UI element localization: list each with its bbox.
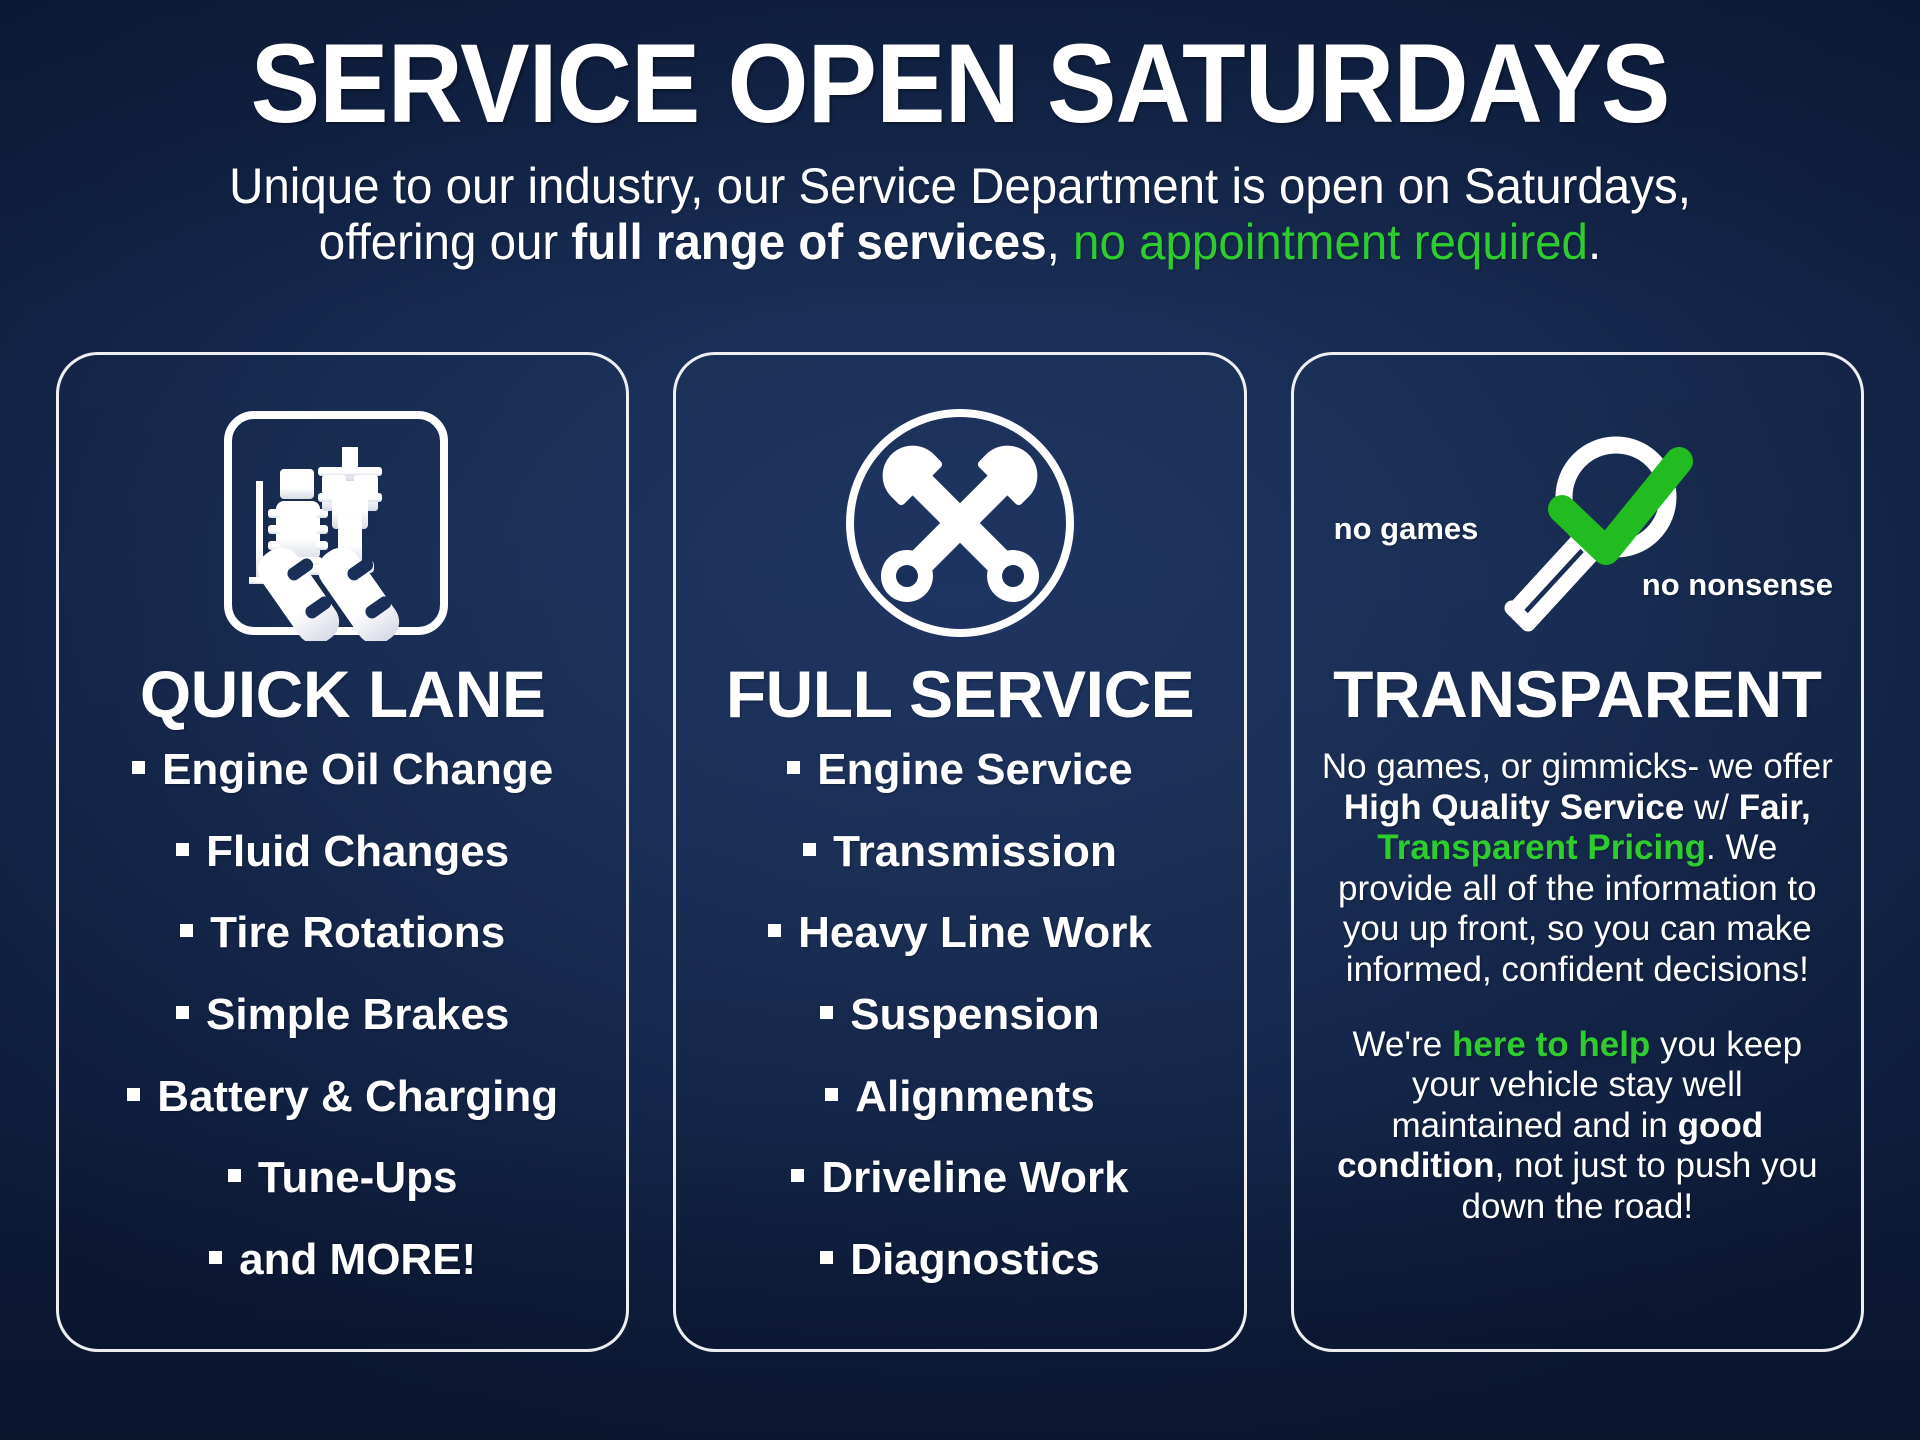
card-title-quick-lane: QUICK LANE bbox=[140, 661, 546, 727]
bullet-icon bbox=[180, 924, 193, 937]
para2-green-1: here to help bbox=[1452, 1025, 1650, 1064]
crossed-wrenches-icon bbox=[694, 389, 1225, 657]
list-item: Diagnostics bbox=[694, 1237, 1225, 1284]
para1-bold-1: High Quality Service bbox=[1344, 788, 1684, 827]
para1-green-1: Transparent Pricing bbox=[1377, 828, 1706, 867]
list-item: Engine Oil Change bbox=[77, 747, 608, 794]
list-item-label: Battery & Charging bbox=[157, 1072, 558, 1121]
bullet-icon bbox=[825, 1088, 838, 1101]
list-item: Driveline Work bbox=[694, 1155, 1225, 1202]
bullet-icon bbox=[127, 1088, 140, 1101]
list-item: Simple Brakes bbox=[77, 992, 608, 1039]
transparent-paragraph-2: We're here to help you keep your vehicle… bbox=[1312, 1025, 1843, 1228]
list-item-label: Diagnostics bbox=[850, 1235, 1099, 1284]
para2-plain-3: , not just to push you down the road! bbox=[1462, 1146, 1818, 1226]
list-item-label: Engine Oil Change bbox=[162, 745, 553, 794]
list-item: Battery & Charging bbox=[77, 1074, 608, 1121]
bullet-icon bbox=[803, 843, 816, 856]
para1-bold-2: Fair, bbox=[1739, 788, 1811, 827]
list-item-label: Suspension bbox=[850, 990, 1099, 1039]
bullet-icon bbox=[787, 761, 800, 774]
card-title-full-service: FULL SERVICE bbox=[726, 661, 1194, 727]
list-item: Tire Rotations bbox=[77, 910, 608, 957]
bullet-icon bbox=[820, 1251, 833, 1264]
bullet-icon bbox=[768, 924, 781, 937]
page-title: SERVICE OPEN SATURDAYS bbox=[67, 28, 1853, 140]
subtitle-bold: full range of services bbox=[571, 214, 1046, 270]
list-item-label: Engine Service bbox=[817, 745, 1132, 794]
cards-container: QUICK LANE Engine Oil Change Fluid Chang… bbox=[0, 352, 1920, 1352]
service-list-quick-lane: Engine Oil Change Fluid Changes Tire Rot… bbox=[77, 747, 608, 1318]
list-item-label: Heavy Line Work bbox=[798, 908, 1152, 957]
para1-plain-2: w/ bbox=[1684, 788, 1738, 827]
para2-plain-1: We're bbox=[1353, 1025, 1452, 1064]
magnifier-check-icon: no games no nonsense bbox=[1312, 389, 1843, 657]
car-lift-icon bbox=[77, 389, 608, 657]
header: SERVICE OPEN SATURDAYS Unique to our ind… bbox=[0, 0, 1920, 270]
icon-label-no-games: no games bbox=[1334, 511, 1479, 547]
card-full-service: FULL SERVICE Engine Service Transmission… bbox=[673, 352, 1246, 1352]
card-quick-lane: QUICK LANE Engine Oil Change Fluid Chang… bbox=[56, 352, 629, 1352]
transparent-paragraph-1: No games, or gimmicks- we offer High Qua… bbox=[1312, 747, 1843, 991]
card-transparent: no games no nonsense TR bbox=[1291, 352, 1864, 1352]
list-item: Transmission bbox=[694, 829, 1225, 876]
subtitle-line-1: Unique to our industry, our Service Depa… bbox=[48, 158, 1872, 214]
bullet-icon bbox=[791, 1169, 804, 1182]
list-item: Alignments bbox=[694, 1074, 1225, 1121]
list-item: Tune-Ups bbox=[77, 1155, 608, 1202]
subtitle-green: no appointment required bbox=[1073, 214, 1588, 270]
list-item: Fluid Changes bbox=[77, 829, 608, 876]
list-item-label: Simple Brakes bbox=[206, 990, 509, 1039]
para1-plain-1: No games, or gimmicks- we offer bbox=[1322, 747, 1833, 786]
bullet-icon bbox=[132, 761, 145, 774]
list-item: Suspension bbox=[694, 992, 1225, 1039]
card-title-transparent: TRANSPARENT bbox=[1333, 661, 1821, 727]
list-item-label: Driveline Work bbox=[821, 1153, 1128, 1202]
bullet-icon bbox=[228, 1169, 241, 1182]
list-item: Engine Service bbox=[694, 747, 1225, 794]
bullet-icon bbox=[820, 1006, 833, 1019]
list-item-label: Fluid Changes bbox=[206, 827, 509, 876]
list-item-label: Transmission bbox=[833, 827, 1117, 876]
subtitle-plain-c: . bbox=[1588, 214, 1601, 270]
list-item-label: Tune-Ups bbox=[258, 1153, 458, 1202]
list-item: Heavy Line Work bbox=[694, 910, 1225, 957]
subtitle-line-2: offering our full range of services, no … bbox=[48, 214, 1872, 270]
icon-label-no-nonsense: no nonsense bbox=[1642, 567, 1833, 603]
list-item-label: and MORE! bbox=[239, 1235, 476, 1284]
list-item-label: Tire Rotations bbox=[210, 908, 505, 957]
bullet-icon bbox=[176, 843, 189, 856]
subtitle-plain-b: , bbox=[1047, 214, 1073, 270]
bullet-icon bbox=[209, 1251, 222, 1264]
list-item-label: Alignments bbox=[855, 1072, 1095, 1121]
subtitle-plain-a: offering our bbox=[319, 214, 572, 270]
page-subtitle: Unique to our industry, our Service Depa… bbox=[48, 158, 1872, 270]
list-item: and MORE! bbox=[77, 1237, 608, 1284]
poster-root: SERVICE OPEN SATURDAYS Unique to our ind… bbox=[0, 0, 1920, 1440]
bullet-icon bbox=[176, 1006, 189, 1019]
service-list-full-service: Engine Service Transmission Heavy Line W… bbox=[694, 747, 1225, 1318]
